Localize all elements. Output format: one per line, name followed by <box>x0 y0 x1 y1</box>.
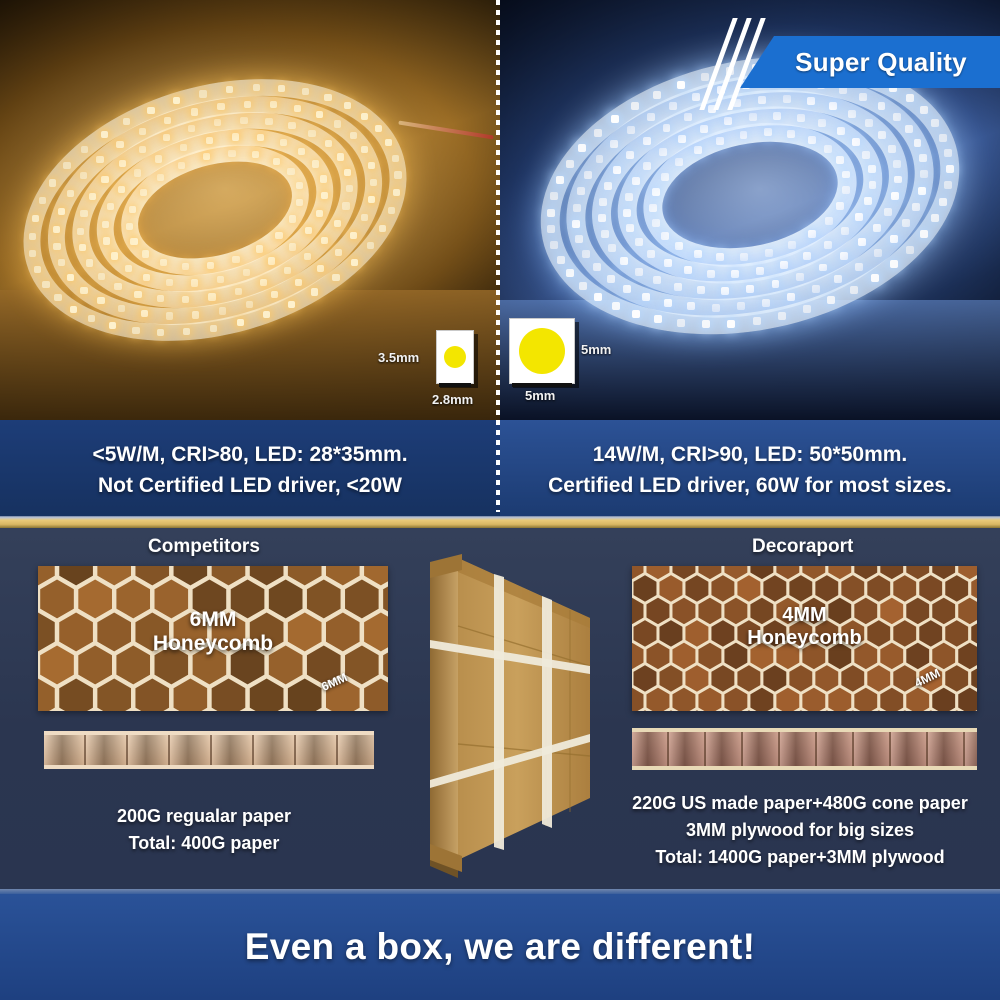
led-wire-lead <box>398 121 493 140</box>
edge-cell <box>254 735 296 765</box>
led-emitter <box>850 286 858 294</box>
decoraport-spec-line-1: 14W/M, CRI>90, LED: 50*50mm. <box>593 439 908 471</box>
led-emitter <box>727 320 735 328</box>
chip-5050-width-label: 5mm <box>525 388 555 403</box>
led-emitter <box>385 139 392 146</box>
edge-cell <box>338 735 374 765</box>
spec-bar-competitor: <5W/M, CRI>80, LED: 28*35mm. Not Certifi… <box>0 420 500 520</box>
competitor-notes: 200G regualar paper Total: 400G paper <box>24 803 384 857</box>
edge-cell <box>817 732 854 766</box>
decoraport-spec-line-2: Certified LED driver, 60W for most sizes… <box>548 470 952 502</box>
led-emitter <box>939 198 947 206</box>
edge-cell <box>669 732 706 766</box>
slogan-text: Even a box, we are different! <box>245 926 755 968</box>
led-emitter <box>183 328 190 335</box>
led-emitter <box>631 102 639 110</box>
led-emitter <box>753 317 761 325</box>
led-emitter <box>931 214 939 222</box>
led-emitter <box>393 189 400 196</box>
edge-cell <box>296 735 338 765</box>
edge-cell <box>743 732 780 766</box>
led-emitter <box>702 320 710 328</box>
competitor-honeycomb-edge <box>44 731 374 769</box>
led-emitter <box>351 259 358 266</box>
led-emitter <box>49 179 56 186</box>
led-comparison-panel: Super Quality 3.5mm 2.8mm 5mm 5mm <5W/M,… <box>0 0 1000 520</box>
decoraport-column-title: Decoraport <box>752 536 853 558</box>
led-emitter <box>173 97 180 104</box>
led-emitter <box>550 192 558 200</box>
decoraport-notes: 220G US made paper+480G cone paper 3MM p… <box>600 790 1000 871</box>
led-emitter <box>324 94 331 101</box>
led-emitter <box>556 176 564 184</box>
edge-cell <box>965 732 977 766</box>
led-emitter <box>547 209 555 217</box>
led-emitter <box>566 269 574 277</box>
led-emitter <box>778 312 786 320</box>
competitor-honeycomb-label: 6MM Honeycomb <box>38 608 388 656</box>
gold-divider-rule <box>0 516 1000 528</box>
spec-bar-decoraport: 14W/M, CRI>90, LED: 50*50mm. Certified L… <box>500 420 1000 520</box>
chip-2835-body <box>436 330 474 384</box>
chip-callout-5050: 5mm 5mm <box>505 318 605 400</box>
led-emitter <box>944 149 952 157</box>
led-emitter <box>42 281 49 288</box>
led-emitter <box>388 207 395 214</box>
chip-5050-body <box>509 318 575 384</box>
edge-liner-bottom <box>44 765 374 769</box>
chip-5050-height-label: 5mm <box>581 342 611 357</box>
led-emitter <box>653 91 661 99</box>
led-emitter <box>361 113 368 120</box>
led-emitter <box>550 241 558 249</box>
led-emitter <box>654 315 662 323</box>
decoraport-note-2: 3MM plywood for big sizes <box>600 817 1000 844</box>
led-emitter <box>578 144 586 152</box>
decoraport-note-1: 220G US made paper+480G cone paper <box>600 790 1000 817</box>
decoraport-honeycomb-edge <box>632 728 977 770</box>
led-emitter <box>39 197 46 204</box>
led-emitter <box>101 131 108 138</box>
led-emitter <box>34 266 41 273</box>
led-emitter <box>906 94 914 102</box>
chip-5050-emitter-icon <box>519 328 565 374</box>
competitor-note-1: 200G regualar paper <box>24 803 384 830</box>
led-emitter <box>944 181 952 189</box>
crate-svg <box>418 548 604 896</box>
decoraport-hc-size: 4MM <box>782 604 826 626</box>
led-emitter <box>367 242 374 249</box>
decoraport-honeycomb-label: 4MM Honeycomb <box>632 604 977 650</box>
edge-cell <box>891 732 928 766</box>
edge-cell <box>632 732 669 766</box>
chip-2835-emitter-icon <box>444 346 466 368</box>
led-emitter <box>579 282 587 290</box>
super-quality-banner: Super Quality <box>740 36 1000 88</box>
led-emitter <box>375 125 382 132</box>
edge-cell <box>706 732 743 766</box>
edge-cell <box>212 735 254 765</box>
led-emitter <box>29 233 36 240</box>
led-emitter <box>288 301 295 308</box>
led-emitter <box>278 85 285 92</box>
competitor-note-2: Total: 400G paper <box>24 830 384 857</box>
led-emitter <box>147 107 154 114</box>
led-emitter <box>226 86 233 93</box>
led-emitter <box>594 129 602 137</box>
led-emitter <box>890 260 898 268</box>
led-emitter <box>199 90 206 97</box>
competitor-spec-line-2: Not Certified LED driver, <20W <box>98 470 402 502</box>
slogan-bar: Even a box, we are different! <box>0 894 1000 1000</box>
wooden-crate-illustration <box>418 548 604 896</box>
led-emitter <box>632 310 640 318</box>
led-emitter <box>547 225 555 233</box>
edge-cell <box>44 735 86 765</box>
led-emitter <box>237 319 244 326</box>
banner-label: Super Quality <box>740 36 1000 88</box>
led-emitter <box>612 302 620 310</box>
led-emitter <box>332 274 339 281</box>
led-emitter <box>394 171 401 178</box>
led-emitter <box>906 246 914 254</box>
led-emitter <box>677 81 685 89</box>
led-emitter <box>827 296 835 304</box>
edge-core <box>44 735 374 765</box>
competitor-spec-line-1: <5W/M, CRI>80, LED: 28*35mm. <box>92 439 407 471</box>
led-emitter <box>611 115 619 123</box>
led-emitter <box>210 325 217 332</box>
competitor-column-title: Competitors <box>148 536 260 558</box>
competitor-honeycomb-image: 6MM Honeycomb 6MM <box>38 566 388 711</box>
led-emitter <box>132 327 139 334</box>
led-emitter <box>54 294 61 301</box>
led-emitter <box>302 88 309 95</box>
led-emitter <box>29 250 36 257</box>
led-emitter <box>939 134 947 142</box>
decoraport-hc-word: Honeycomb <box>747 627 861 649</box>
product-comparison-infographic: Super Quality 3.5mm 2.8mm 5mm 5mm <5W/M,… <box>0 0 1000 1000</box>
led-emitter <box>263 311 270 318</box>
led-emitter <box>88 315 95 322</box>
chip-2835-width-label: 2.8mm <box>432 392 473 407</box>
chip-2835-height-label: 3.5mm <box>378 350 419 365</box>
led-emitter <box>109 322 116 329</box>
warm-led-strip-photo <box>0 0 500 420</box>
led-emitter <box>931 119 939 127</box>
led-emitter <box>871 274 879 282</box>
led-emitter <box>566 160 574 168</box>
led-emitter <box>946 165 954 173</box>
led-emitter <box>70 306 77 313</box>
led-emitter <box>379 225 386 232</box>
led-emitter <box>557 256 565 264</box>
led-emitter <box>920 106 928 114</box>
edge-cell <box>170 735 212 765</box>
edge-liner-bottom <box>632 766 977 770</box>
panel-divider <box>496 0 500 512</box>
led-emitter <box>920 230 928 238</box>
led-emitter <box>81 146 88 153</box>
led-emitter <box>677 319 685 327</box>
led-emitter <box>123 118 130 125</box>
led-emitter <box>32 215 39 222</box>
led-emitter <box>63 162 70 169</box>
led-emitter <box>157 329 164 336</box>
chip-callout-2835: 3.5mm 2.8mm <box>430 330 476 392</box>
edge-core <box>632 732 977 766</box>
competitor-hc-size: 6MM <box>190 608 237 631</box>
led-emitter <box>253 84 260 91</box>
edge-cell <box>854 732 891 766</box>
edge-cell <box>928 732 965 766</box>
led-emitter <box>803 305 811 313</box>
led-emitter <box>344 102 351 109</box>
edge-cell <box>780 732 817 766</box>
edge-cell <box>128 735 170 765</box>
competitor-hc-word: Honeycomb <box>153 632 273 655</box>
decoraport-honeycomb-image: 4MM Honeycomb 4MM <box>632 566 977 711</box>
edge-cell <box>86 735 128 765</box>
led-emitter <box>594 293 602 301</box>
led-emitter <box>311 288 318 295</box>
decoraport-note-3: Total: 1400G paper+3MM plywood <box>600 844 1000 871</box>
led-emitter <box>392 155 399 162</box>
